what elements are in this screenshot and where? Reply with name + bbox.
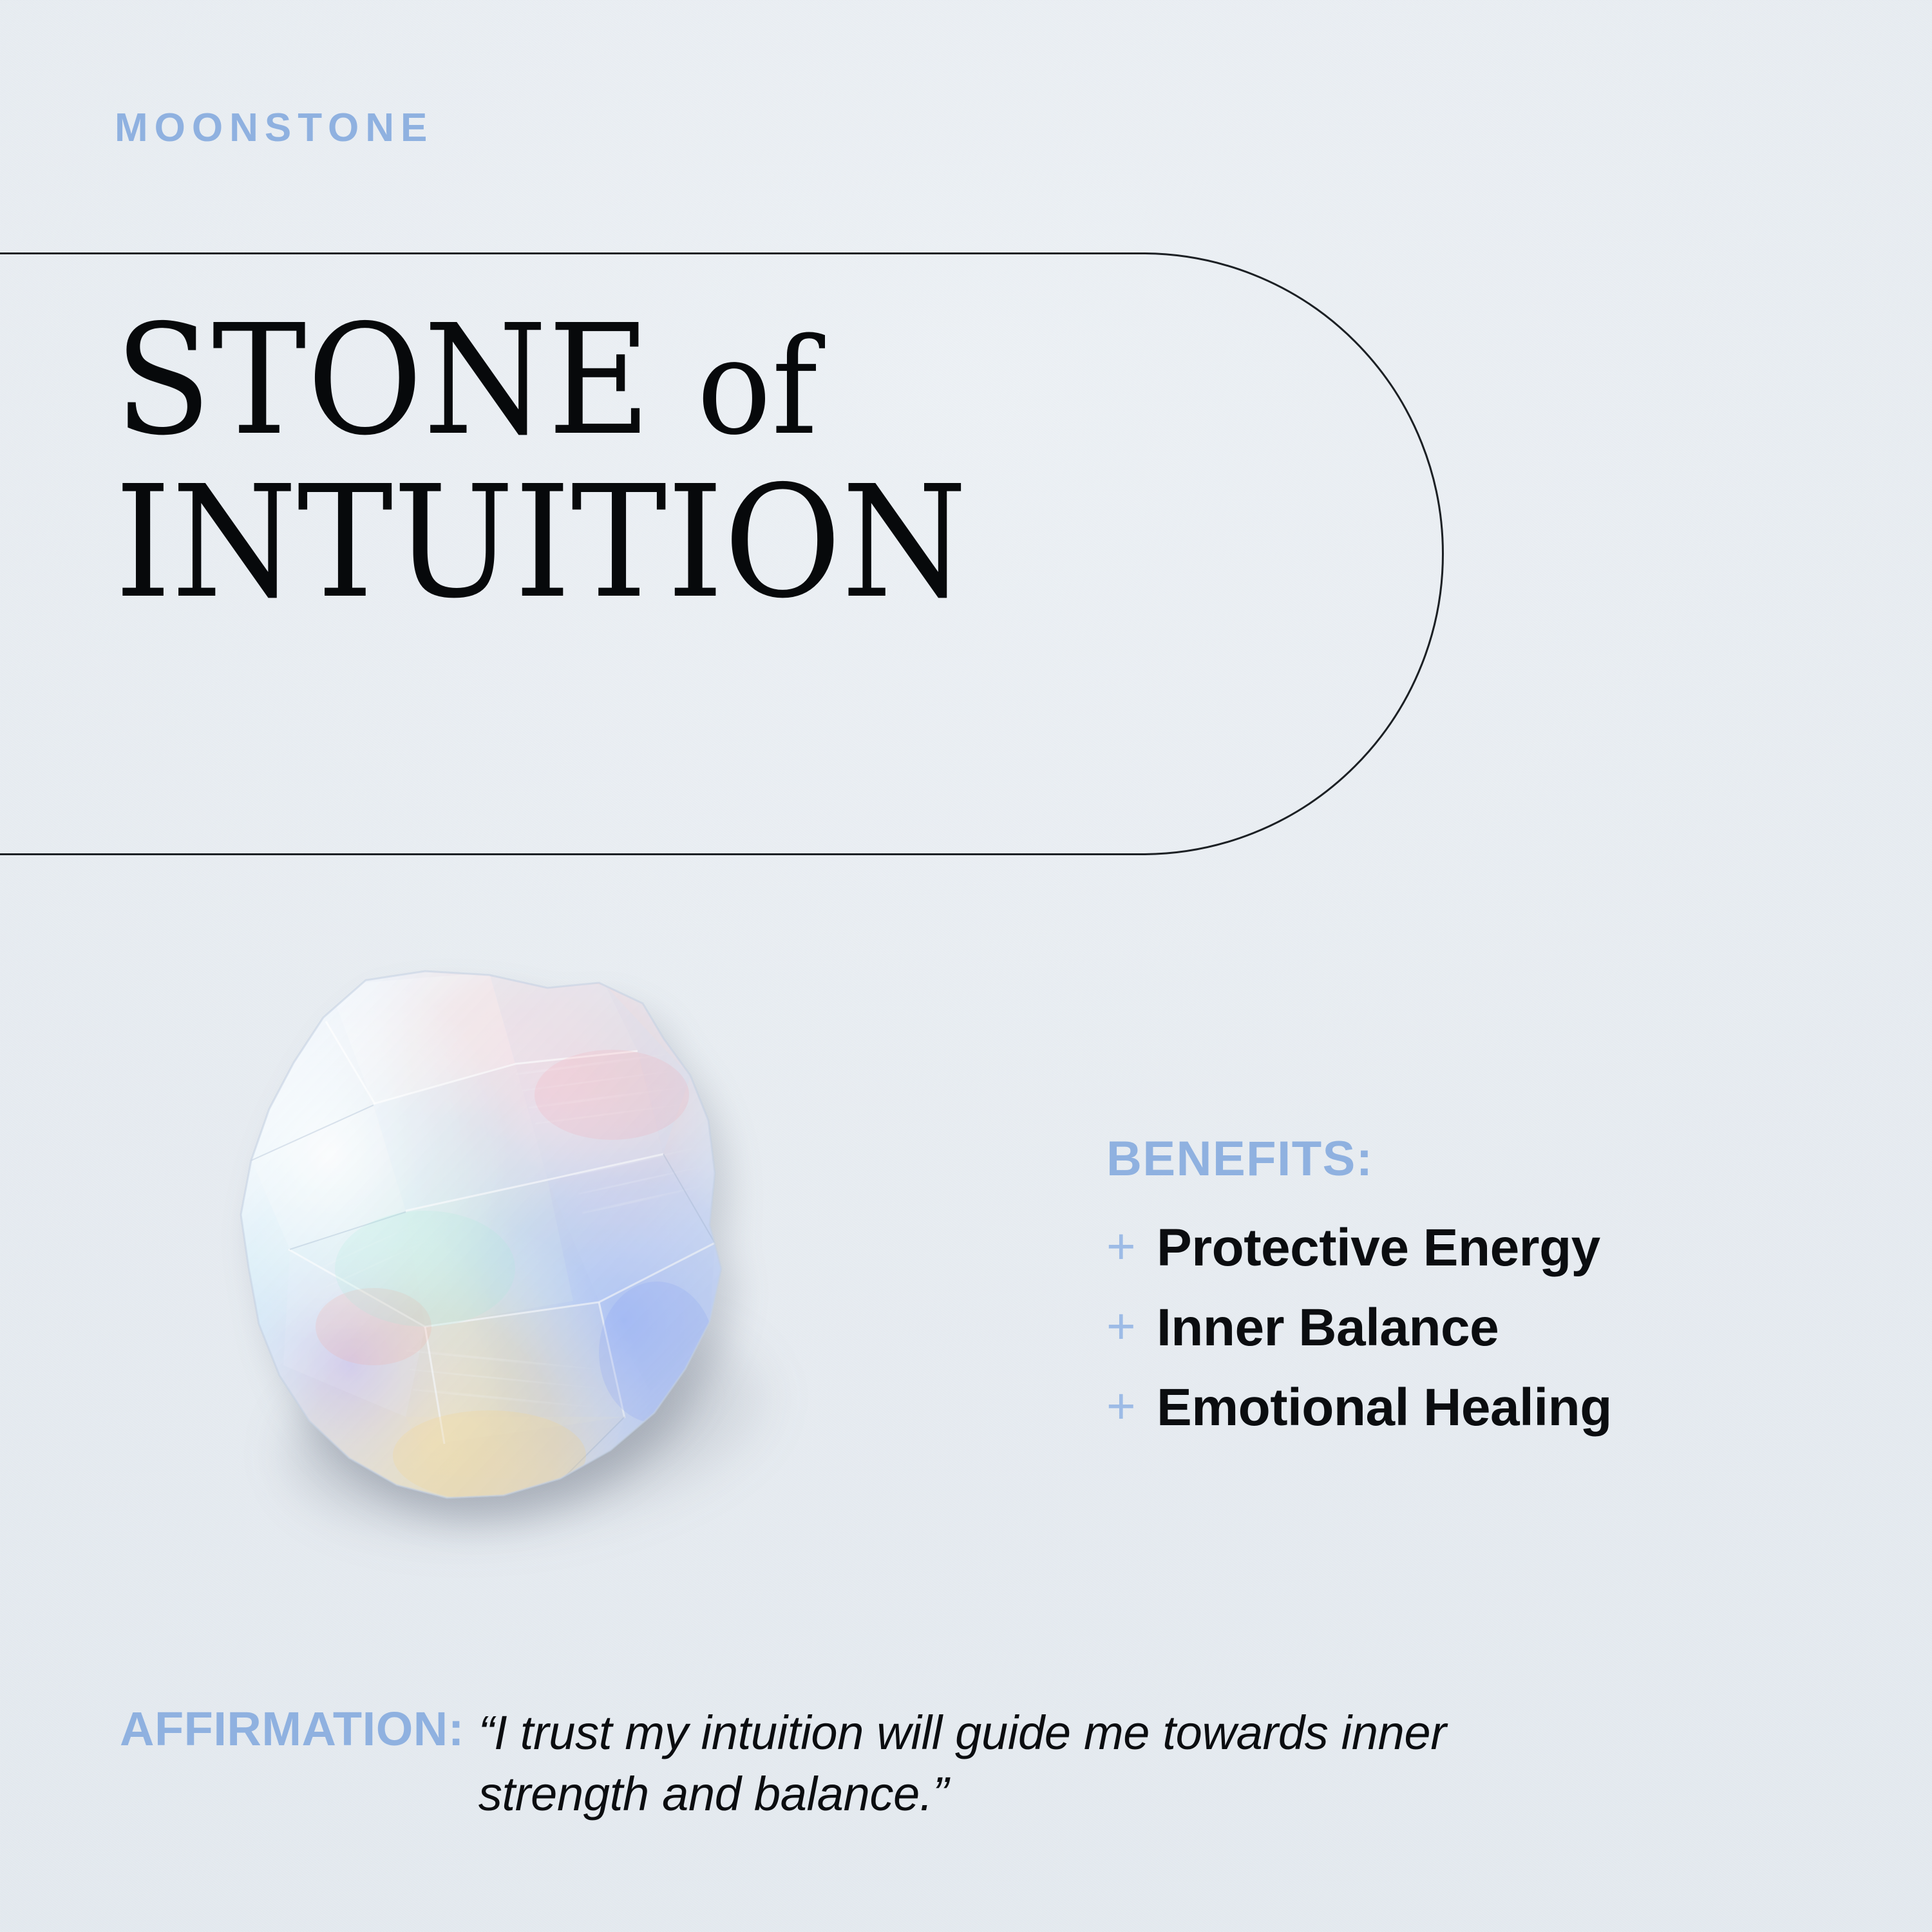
title-line-2: INTUITION xyxy=(115,470,1312,616)
category-eyebrow: MOONSTONE xyxy=(115,108,433,148)
benefits-section: BENEFITS: + Protective Energy + Inner Ba… xyxy=(1106,1135,1828,1453)
benefits-heading: BENEFITS: xyxy=(1106,1135,1828,1184)
affirmation-section: AFFIRMATION: “I trust my intuition will … xyxy=(120,1703,1859,1824)
title-line-1: STONE of xyxy=(115,309,1312,452)
benefit-label: Protective Energy xyxy=(1157,1222,1600,1274)
benefit-label: Emotional Healing xyxy=(1157,1381,1612,1434)
plus-icon: + xyxy=(1106,1301,1157,1351)
affirmation-quote: “I trust my intuition will guide me towa… xyxy=(478,1703,1548,1824)
moonstone-poster: MOONSTONE STONE of INTUITION xyxy=(0,0,1932,1932)
affirmation-label: AFFIRMATION: xyxy=(120,1703,464,1753)
benefit-label: Inner Balance xyxy=(1157,1302,1499,1354)
plus-icon: + xyxy=(1106,1221,1157,1271)
plus-icon: + xyxy=(1106,1381,1157,1431)
benefit-item-inner-balance: + Inner Balance xyxy=(1106,1293,1828,1363)
benefit-item-protective-energy: + Protective Energy xyxy=(1106,1213,1828,1283)
page-title: STONE of INTUITION xyxy=(115,309,1403,615)
specimen-figure xyxy=(193,960,811,1604)
benefit-item-emotional-healing: + Emotional Healing xyxy=(1106,1373,1828,1443)
title-word-of: of xyxy=(697,310,818,464)
title-word-stone: STONE xyxy=(115,292,652,469)
moonstone-crystal-icon xyxy=(213,966,741,1520)
